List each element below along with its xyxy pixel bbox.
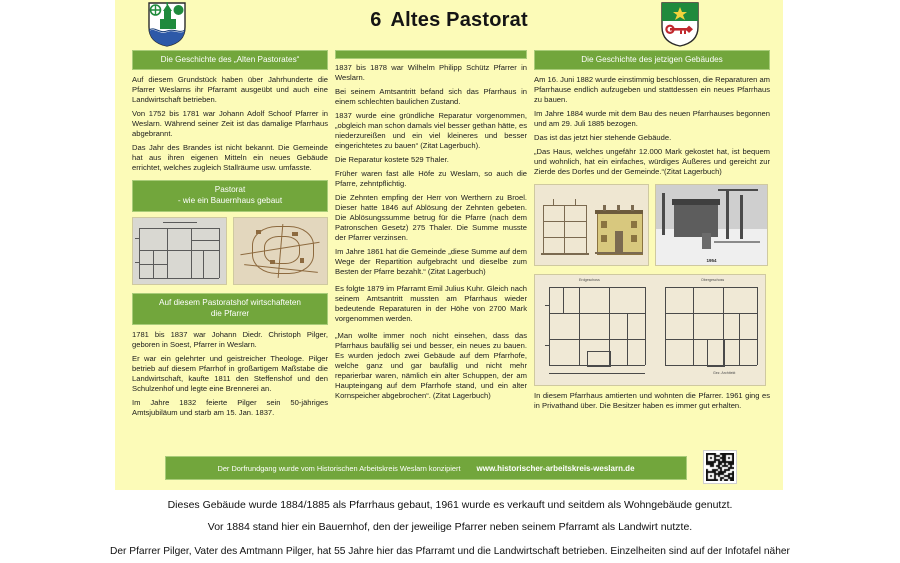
- footer-website-link[interactable]: www.historischer-arbeitskreis-weslarn.de: [477, 464, 635, 473]
- floor-plan-sketch-image: [132, 217, 227, 285]
- left-column: Die Geschichte des „Alten Pastorates“ Au…: [132, 50, 328, 422]
- mid-paragraph-2: Bei seinem Amtsantritt befand sich das P…: [335, 87, 527, 107]
- info-board-poster: 6Altes Pastorat Die Geschichte des „Alt: [115, 0, 783, 490]
- section-heading-built-like-farmhouse: Pastorat - wie ein Bauernhaus gebaut: [132, 180, 328, 212]
- heading-line-1: Auf diesem Pastoratshof wirtschafteten: [137, 297, 323, 309]
- right-column-caption: In diesem Pfarrhaus amtierten und wohnte…: [534, 391, 770, 411]
- left-image-row: [132, 217, 328, 285]
- left-paragraph-5: Er war ein gelehrter und geistreicher Th…: [132, 354, 328, 394]
- right-paragraph-3: Das ist das jetzt hier stehende Gebäude.: [534, 133, 770, 143]
- left-paragraph-1: Auf diesem Grundstück haben über Jahrhun…: [132, 75, 328, 105]
- mid-paragraph-6: Die Zehnten empfing der Herr von Werther…: [335, 193, 527, 243]
- qr-code-icon[interactable]: [703, 450, 737, 484]
- architectural-elevation-drawing-image: [534, 184, 649, 266]
- mid-paragraph-9: „Man wollte immer noch nicht einsehen, d…: [335, 331, 527, 401]
- left-paragraph-3: Das Jahr des Brandes ist nicht bekannt. …: [132, 143, 328, 173]
- footer-credit-text: Der Dorfrundgang wurde vom Historischen …: [217, 464, 460, 473]
- section-heading-pastors-farm: Auf diesem Pastoratshof wirtschafteten d…: [132, 293, 328, 325]
- right-image-row: 1954: [534, 184, 770, 266]
- left-paragraph-6: Im Jahre 1832 feierte Pilger sein 50-jäh…: [132, 398, 328, 418]
- poster-title-text: Altes Pastorat: [391, 9, 528, 31]
- description-line-1: Dieses Gebäude wurde 1884/1885 als Pfarr…: [0, 490, 900, 512]
- mid-paragraph-7: Im Jahre 1861 hat die Gemeinde „diese Su…: [335, 247, 527, 277]
- heading-line-1: Pastorat: [137, 184, 323, 196]
- footer-credit-bar: Der Dorfrundgang wurde vom Historischen …: [165, 456, 687, 480]
- mid-paragraph-4: Die Reparatur kostete 529 Thaler.: [335, 155, 527, 165]
- poster-number: 6: [370, 9, 381, 31]
- heading-line-2: die Pfarrer: [137, 308, 323, 320]
- screenshot-root: 6Altes Pastorat Die Geschichte des „Alt: [0, 0, 900, 563]
- middle-column: 1837 bis 1878 war Wilhelm Philipp Schütz…: [335, 50, 527, 405]
- building-floor-plans-drawing-image: Erdgeschoss Obergeschoss: [534, 274, 766, 386]
- mid-paragraph-3: 1837 wurde eine gründliche Reparatur vor…: [335, 111, 527, 151]
- section-heading-current-building: Die Geschichte des jetzigen Gebäudes: [534, 50, 770, 70]
- heading-line-2: - wie ein Bauernhaus gebaut: [137, 195, 323, 207]
- mid-paragraph-1: 1837 bis 1878 war Wilhelm Philipp Schütz…: [335, 63, 527, 83]
- section-heading-old-parsonage: Die Geschichte des „Alten Pastorates“: [132, 50, 328, 70]
- mid-paragraph-5: Früher waren fast alle Höfe zu Weslarn, …: [335, 169, 527, 189]
- mid-paragraph-8: Es folgte 1879 im Pfarramt Emil Julius K…: [335, 284, 527, 324]
- left-paragraph-4: 1781 bis 1837 war Johann Diedr. Christop…: [132, 330, 328, 350]
- description-line-3: Der Pfarrer Pilger, Vater des Amtmann Pi…: [0, 534, 900, 558]
- winter-photo-year-label: 1954: [656, 258, 767, 263]
- page-description: Dieses Gebäude wurde 1884/1885 als Pfarr…: [0, 490, 900, 558]
- historic-estate-map-image: [233, 217, 328, 285]
- right-paragraph-4: „Das Haus, welches ungefähr 12.000 Mark …: [534, 147, 770, 177]
- right-paragraph-2: Im Jahre 1884 wurde mit dem Bau des neue…: [534, 109, 770, 129]
- poster-footer: Der Dorfrundgang wurde vom Historischen …: [115, 448, 783, 490]
- winter-photo-of-parsonage-image: 1954: [655, 184, 768, 266]
- left-paragraph-2: Von 1752 bis 1781 war Johann Adolf Schoo…: [132, 109, 328, 139]
- right-column: Die Geschichte des jetzigen Gebäudes Am …: [534, 50, 770, 411]
- description-line-2: Vor 1884 stand hier ein Bauernhof, den d…: [0, 512, 900, 534]
- right-paragraph-1: Am 16. Juni 1882 wurde einstimmig beschl…: [534, 75, 770, 105]
- poster-header: 6Altes Pastorat: [115, 0, 783, 50]
- poster-columns: Die Geschichte des „Alten Pastorates“ Au…: [115, 50, 783, 448]
- village-coat-of-arms-icon: [660, 1, 700, 47]
- column-divider-bar: [335, 50, 527, 59]
